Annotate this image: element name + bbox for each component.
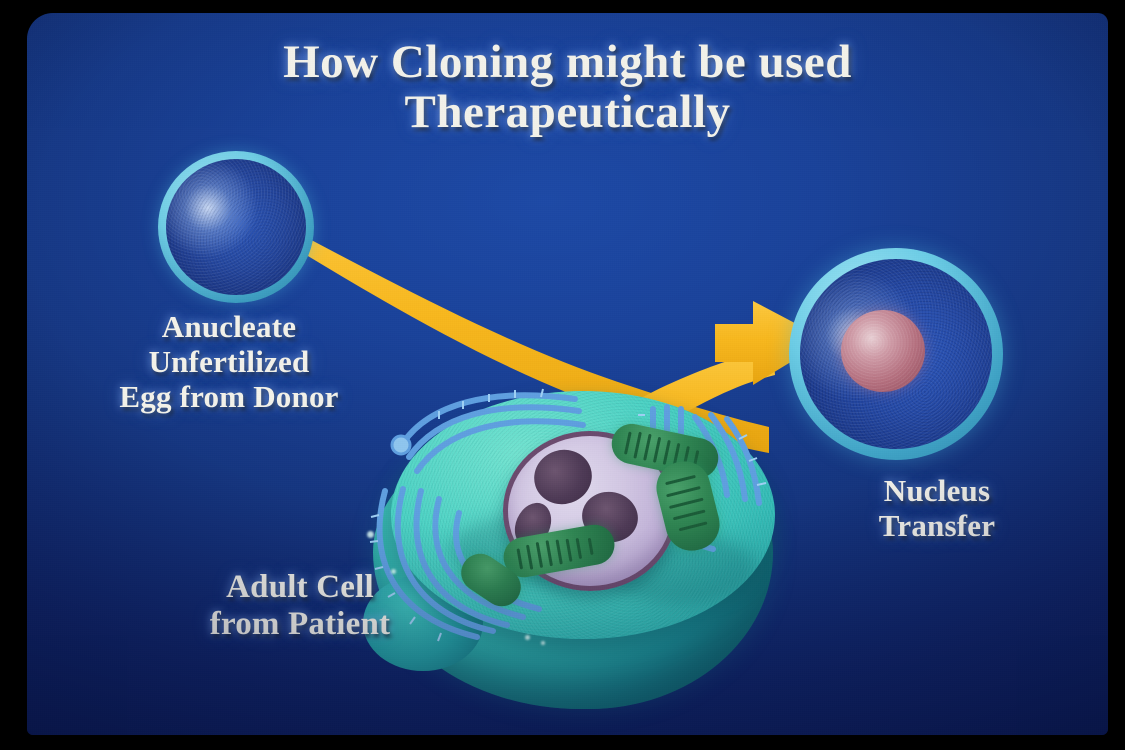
recipient-egg-cell: [789, 248, 1003, 460]
label-nucleus-transfer: Nucleus Transfer: [817, 473, 1057, 543]
slide-canvas: How Cloning might be used Therapeuticall…: [27, 13, 1108, 735]
highlight-sparkle: [525, 635, 530, 640]
highlight-sparkle: [391, 569, 396, 574]
anucleate-egg-cell: [158, 151, 314, 303]
highlight-sparkle: [367, 531, 374, 538]
page-title: How Cloning might be used Therapeuticall…: [27, 37, 1108, 138]
highlight-sparkle: [541, 641, 545, 645]
transferred-nucleus: [841, 310, 925, 392]
nucleus-texture: [841, 310, 925, 392]
slide-frame: How Cloning might be used Therapeuticall…: [0, 0, 1125, 750]
egg-texture: [166, 159, 306, 295]
adult-somatic-cell: [339, 365, 809, 713]
